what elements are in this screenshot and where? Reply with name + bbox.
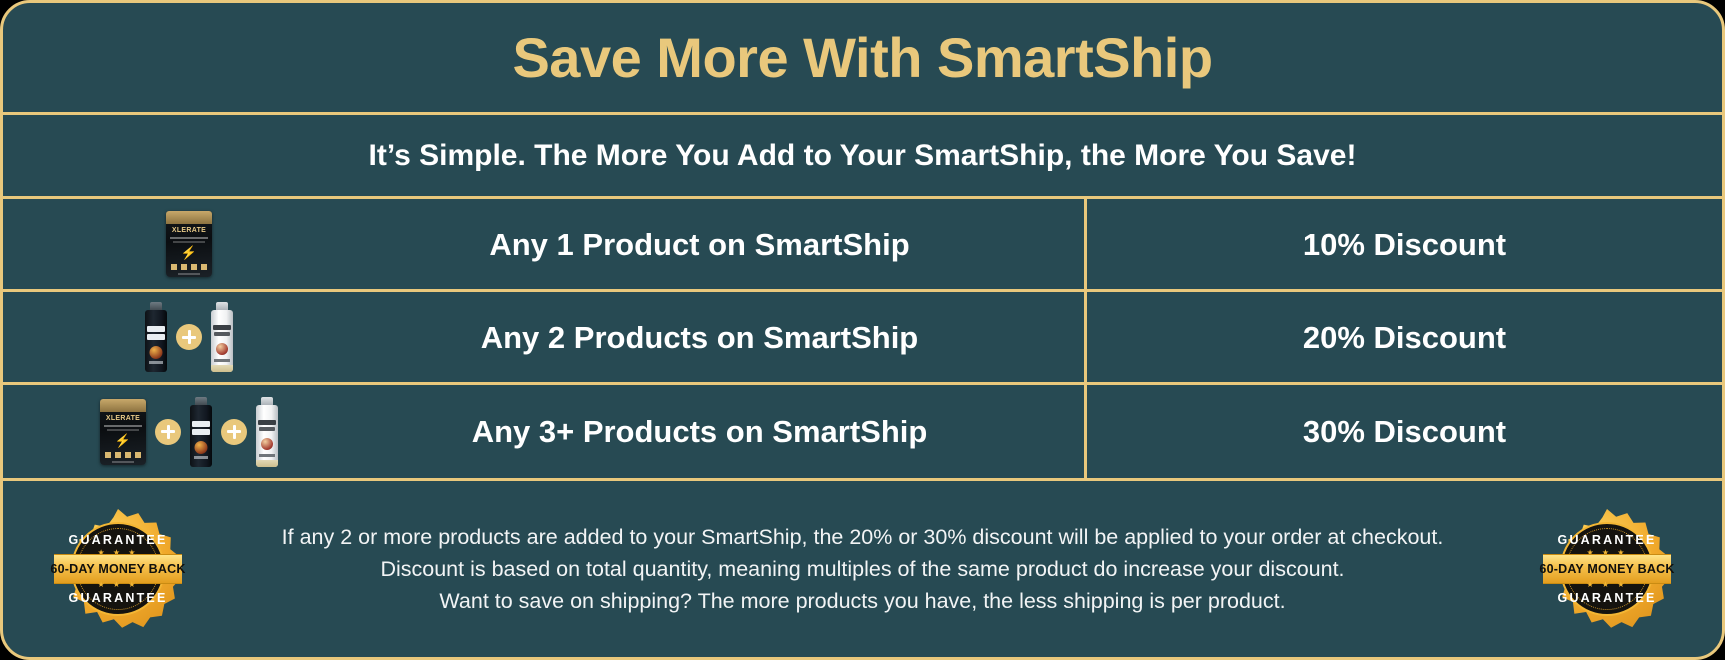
tier-1-description-cell: XLERATE ⚡ Any 1 Product on SmartShip	[3, 199, 1087, 289]
badge-banner-text: 60-DAY MONEY BACK	[1539, 563, 1674, 576]
page-title: Save More With SmartShip	[512, 30, 1212, 86]
can-label-line-3	[259, 454, 275, 457]
can-base	[211, 365, 233, 372]
pouch-footer-line	[112, 461, 134, 463]
footer-line-3: Want to save on shipping? The more produ…	[184, 585, 1541, 617]
badge-banner-text: 60-DAY MONEY BACK	[50, 563, 185, 576]
tier-3-description-cell: XLERATE ⚡	[3, 385, 1087, 478]
pouch-brand-label: XLERATE	[169, 227, 209, 234]
tier-1-product-images: XLERATE ⚡	[3, 199, 375, 289]
subtitle-band: It’s Simple. The More You Add to Your Sm…	[3, 115, 1722, 199]
tier-3-product-images: XLERATE ⚡	[3, 385, 375, 478]
can-emblem-icon	[261, 438, 273, 450]
pouch-brand-label: XLERATE	[103, 415, 143, 422]
can-label-line-1	[147, 326, 165, 332]
can-label-line-3	[194, 456, 208, 459]
pouch-badge-row	[166, 264, 212, 270]
product-pouch-xlerate: XLERATE ⚡	[100, 399, 146, 465]
can-label-line-1	[213, 325, 231, 330]
tier-3-discount: 30% Discount	[1303, 416, 1506, 447]
can-emblem-icon	[195, 441, 208, 454]
tier-2-product-images	[3, 292, 375, 382]
can-label-line-2	[147, 334, 165, 340]
can-emblem-icon	[216, 343, 228, 355]
badge-stars-bottom: ★ ★ ★	[58, 581, 178, 589]
lightning-bolt-icon: ⚡	[115, 434, 131, 447]
can-body	[190, 405, 212, 467]
header-band: Save More With SmartShip	[3, 3, 1722, 115]
pouch-top-seal	[100, 399, 146, 412]
footer-band: GUARANTEE ★ ★ ★ 60-DAY MONEY BACK ★ ★ ★ …	[3, 478, 1722, 657]
pouch-badge-row	[100, 452, 146, 458]
tier-1-discount: 10% Discount	[1303, 229, 1506, 260]
tier-1-label: Any 1 Product on SmartShip	[375, 229, 1084, 260]
tier-2-discount: 20% Discount	[1303, 322, 1506, 353]
table-row: XLERATE ⚡	[3, 385, 1722, 478]
pouch-top-seal	[166, 211, 212, 224]
product-spray-can-light	[256, 397, 278, 467]
footer-line-2: Discount is based on total quantity, mea…	[184, 553, 1541, 585]
smartship-promo-card: Save More With SmartShip It’s Simple. Th…	[0, 0, 1725, 660]
table-row: XLERATE ⚡ Any 1 Product on SmartShip 10%…	[3, 199, 1722, 292]
product-spray-can-dark	[145, 302, 167, 372]
product-spray-can-dark	[190, 397, 212, 467]
guarantee-badge-left: GUARANTEE ★ ★ ★ 60-DAY MONEY BACK ★ ★ ★ …	[58, 509, 178, 629]
pouch-subtext-line-1	[170, 237, 208, 239]
lightning-bolt-icon: ⚡	[181, 246, 197, 259]
product-spray-can-light	[211, 302, 233, 372]
table-row: Any 2 Products on SmartShip 20% Discount	[3, 292, 1722, 385]
can-body	[211, 310, 233, 372]
tier-3-label: Any 3+ Products on SmartShip	[375, 416, 1084, 447]
badge-arc-bottom-text: GUARANTEE	[58, 592, 178, 605]
plus-icon	[176, 324, 202, 350]
can-base	[256, 460, 278, 467]
tier-2-description-cell: Any 2 Products on SmartShip	[3, 292, 1087, 382]
badge-arc-bottom-text: GUARANTEE	[1547, 592, 1667, 605]
can-label-line-2	[192, 429, 210, 435]
can-label-line-2	[214, 332, 230, 336]
badge-arc-top-text: GUARANTEE	[58, 534, 178, 547]
badge-arc-top-text: GUARANTEE	[1547, 534, 1667, 547]
can-body	[145, 310, 167, 372]
pouch-footer-line	[178, 273, 200, 275]
plus-icon	[221, 419, 247, 445]
footer-disclaimer: If any 2 or more products are added to y…	[178, 521, 1547, 618]
pouch-subtext-line-1	[104, 425, 142, 427]
can-body	[256, 405, 278, 467]
tier-1-discount-cell: 10% Discount	[1087, 199, 1722, 289]
subtitle-text: It’s Simple. The More You Add to Your Sm…	[369, 141, 1357, 171]
pouch-subtext-line-2	[107, 429, 139, 431]
footer-line-1: If any 2 or more products are added to y…	[184, 521, 1541, 553]
can-emblem-icon	[150, 346, 163, 359]
tier-3-discount-cell: 30% Discount	[1087, 385, 1722, 478]
pouch-subtext-line-2	[173, 241, 205, 243]
tier-2-label: Any 2 Products on SmartShip	[375, 322, 1084, 353]
can-label-line-1	[258, 420, 276, 425]
product-pouch-xlerate: XLERATE ⚡	[166, 211, 212, 277]
plus-icon	[155, 419, 181, 445]
badge-stars-bottom: ★ ★ ★	[1547, 581, 1667, 589]
can-label-line-2	[259, 427, 275, 431]
guarantee-badge-right: GUARANTEE ★ ★ ★ 60-DAY MONEY BACK ★ ★ ★ …	[1547, 509, 1667, 629]
tier-2-discount-cell: 20% Discount	[1087, 292, 1722, 382]
can-label-line-3	[214, 359, 230, 362]
can-label-line-1	[192, 421, 210, 427]
discount-tier-table: XLERATE ⚡ Any 1 Product on SmartShip 10%…	[3, 199, 1722, 478]
can-label-line-3	[149, 361, 163, 364]
